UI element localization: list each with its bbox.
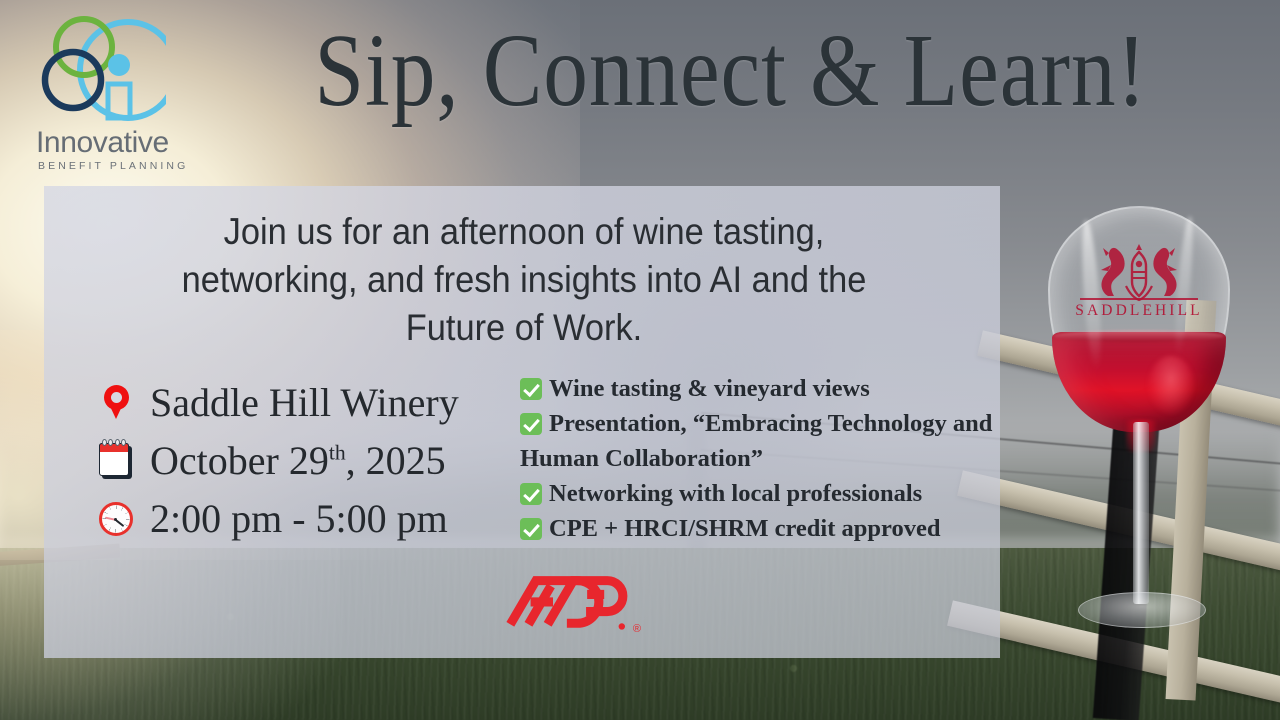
date-day: 29 <box>289 438 329 483</box>
checklist-item-label: Networking with local professionals <box>549 480 922 507</box>
crest-divider-rule <box>1080 298 1198 300</box>
event-date: October 29th, 2025 <box>150 441 446 481</box>
location-pin-icon <box>96 381 136 425</box>
checklist-item: Presentation, “Embracing Technology and … <box>520 406 998 476</box>
event-details-list: Saddle Hill Winery October 29th, 2025 <box>96 374 526 548</box>
glass-etched-brand: SADDLEHILL <box>1058 302 1220 320</box>
adp-logo-icon <box>473 573 633 633</box>
wine-highlight <box>1148 356 1194 414</box>
checklist-item-label: Wine tasting & vineyard views <box>549 375 870 402</box>
adp-registered-mark: ® <box>633 623 641 635</box>
check-icon <box>520 483 542 505</box>
logo-circles-icon <box>26 14 166 124</box>
checklist-item: Networking with local professionals <box>520 476 998 511</box>
glass-stem <box>1133 422 1149 604</box>
event-flyer: Innovative BENEFIT PLANNING Sip, Connect… <box>0 0 1280 720</box>
logo-tagline: BENEFIT PLANNING <box>38 160 188 172</box>
glass-base <box>1078 592 1206 628</box>
checklist-item: CPE + HRCI/SHRM credit approved <box>520 511 998 546</box>
check-icon <box>520 518 542 540</box>
alarm-clock-icon <box>96 497 136 541</box>
logo-wordmark: Innovative <box>36 128 206 158</box>
calendar-icon <box>96 439 136 483</box>
detail-row-venue: Saddle Hill Winery <box>96 374 526 432</box>
date-month: October <box>150 438 289 483</box>
detail-row-date: October 29th, 2025 <box>96 432 526 490</box>
checklist-item: Wine tasting & vineyard views <box>520 371 998 406</box>
check-icon <box>520 413 542 435</box>
red-wine <box>1052 332 1226 432</box>
checklist-item-label: CPE + HRCI/SHRM credit approved <box>549 515 940 542</box>
benefits-checklist: Wine tasting & vineyard views Presentati… <box>520 371 998 546</box>
wine-surface <box>1054 330 1224 342</box>
date-year: , 2025 <box>346 438 446 483</box>
event-time: 2:00 pm - 5:00 pm <box>150 499 448 539</box>
venue-name: Saddle Hill Winery <box>150 383 459 423</box>
page-title: Sip, Connect & Learn! <box>314 16 1105 126</box>
date-suffix: th <box>329 441 346 465</box>
detail-row-time: 2:00 pm - 5:00 pm <box>96 490 526 548</box>
check-icon <box>520 378 542 400</box>
innovative-logo: Innovative BENEFIT PLANNING <box>18 10 208 170</box>
content-panel: Join us for an afternoon of wine tasting… <box>44 186 1000 658</box>
adp-sponsor-logo: ® <box>473 573 633 639</box>
checklist-item-label: Presentation, “Embracing Technology and … <box>520 410 992 472</box>
intro-text: Join us for an afternoon of wine tasting… <box>180 208 868 352</box>
wine-glass: SADDLEHILL <box>1040 206 1240 658</box>
